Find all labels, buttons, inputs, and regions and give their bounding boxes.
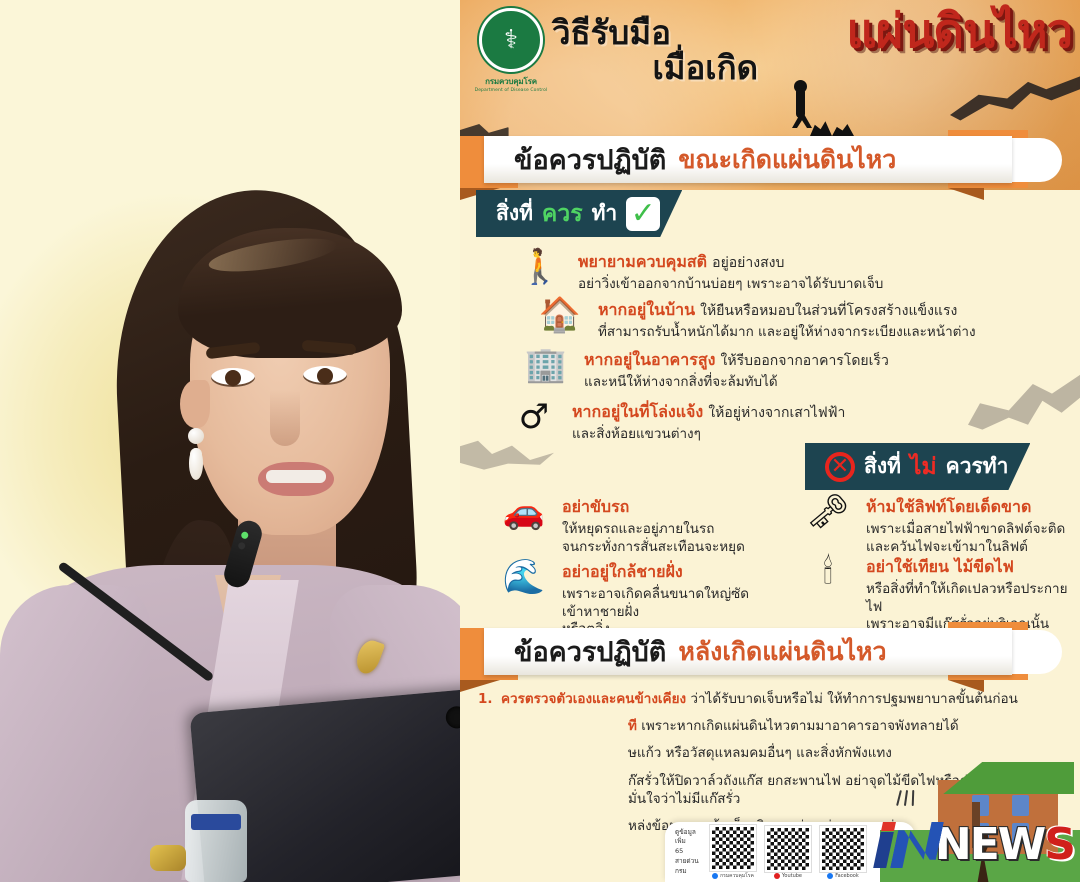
title-line-2: เมื่อเกิด <box>552 51 762 86</box>
dont-item-3-heading: อย่าอยู่ใกล้ชายฝั่ง <box>562 562 683 581</box>
after-item-1-em: ควรตรวจตัวเองและคนข้างเคียง <box>501 691 686 707</box>
do-item-2: 🏠 หากอยู่ในบ้าน ให้ยืนหรือหมอบในส่วนที่โ… <box>532 298 1002 342</box>
teeth <box>266 470 326 483</box>
after-item-1-num: 1. <box>478 690 494 708</box>
check-icon: ✓ <box>626 197 660 231</box>
banner-after-earthquake: ข้อควรปฏิบัติ หลังเกิดแผ่นดินไหว <box>460 622 1080 682</box>
do-section-tag: สิ่งที่ ควร ทำ ✓ <box>476 190 682 237</box>
do-item-4: ♂ หากอยู่ในที่โล่งแจ้ง ให้อยู่ห่างจากเสา… <box>506 400 976 444</box>
water-bottle <box>185 800 247 882</box>
screenshot-root: ⚕ กรมควบคุมโรค Department of Disease Con… <box>0 0 1080 882</box>
person-running-silhouette-icon <box>770 88 860 136</box>
dont-item-1-detail: ให้หยุดรถและอยู่ภายในรถ จนกระทั่งการสั่น… <box>562 521 745 556</box>
open-field-pole-icon: ♂ <box>506 400 562 434</box>
do-item-3-text: หากอยู่ในอาคารสูง ให้รีบออกจากอาคารโดยเร… <box>584 348 889 392</box>
dont-tag-suffix: ควรทำ <box>946 450 1009 483</box>
qr-block-1[interactable]: กรมควบคุมโรค <box>710 825 756 880</box>
qr-label-3: Facebook <box>820 873 866 879</box>
do-item-2-heading: หากอยู่ในบ้าน <box>598 300 695 319</box>
dont-tag-accent: ไม่ <box>910 449 937 485</box>
banner-after-label: ข้อควรปฏิบัติ <box>514 630 666 673</box>
title-line-1: วิธีรับมือ <box>552 13 671 52</box>
shoulder-left <box>0 585 150 882</box>
eye-right <box>303 366 347 385</box>
do-item-4-detail: และสิ่งห้อยแขวนต่างๆ <box>572 426 845 444</box>
do-item-4-heading-tail: ให้อยู่ห่างจากเสาไฟฟ้า <box>708 405 845 421</box>
do-item-1-text: พยายามควบคุมสติ อยู่อย่างสงบ อย่าวิ่งเข้… <box>578 250 883 294</box>
after-item-3-rest: ษแก้ว หรือวัสดุแหลมคมอื่นๆ และสิ่งหักพัง… <box>628 744 892 762</box>
department-name-en: Department of Disease Control <box>472 88 550 93</box>
news-wordmark: NEWS <box>935 823 1074 867</box>
news-word-red: S <box>1044 819 1074 870</box>
poster-title-highlight: แผ่นดินไหว <box>760 8 1072 55</box>
after-item-1-rest: ว่าได้รับบาดเจ็บหรือไม่ ให้ทำการปฐมพยาบา… <box>690 691 1017 707</box>
ribbon2-cap <box>1006 630 1062 674</box>
earring <box>188 428 204 444</box>
car-icon: 🚗 <box>496 495 552 529</box>
do-item-1-heading-tail: อยู่อย่างสงบ <box>712 255 784 271</box>
after-item-1: 1. ควรตรวจตัวเองและคนข้างเคียง ว่าได้รับ… <box>478 690 1062 708</box>
dont-item-2-detail: เพราะเมื่อสายไฟฟ้าขาดลิฟต์จะติด และควันไ… <box>866 521 1065 556</box>
press-conference-photo <box>0 0 470 882</box>
dont-item-1: 🚗 อย่าขับรถ ให้หยุดรถและอยู่ภายในรถ จนกร… <box>496 495 766 556</box>
qr-label-2: Youtube <box>765 873 811 879</box>
qr-code-facebook-dept[interactable] <box>710 825 756 871</box>
in-logo-icon <box>875 822 941 868</box>
qr-code-facebook[interactable] <box>820 826 866 872</box>
dont-section-tag: ✕ สิ่งที่ ไม่ ควรทำ <box>805 443 1030 490</box>
do-item-3-heading: หากอยู่ในอาคารสูง <box>584 350 715 369</box>
banner-during-highlight: ขณะเกิดแผ่นดินไหว <box>678 140 896 180</box>
house-window-2 <box>1012 795 1029 816</box>
caduceus-seal-icon: ⚕ <box>479 8 543 72</box>
house-table-icon: 🏠 <box>532 298 588 332</box>
ribbon-cap <box>1006 138 1062 182</box>
ear <box>180 380 210 428</box>
do-tag-accent: ควร <box>542 196 583 232</box>
shore-wave-icon: 🌊 <box>496 560 552 594</box>
qr-block-2[interactable]: Youtube <box>765 826 811 879</box>
in-news-watermark: NEWS <box>875 822 1074 868</box>
do-item-1: 🚶 พยายามควบคุมสติ อยู่อย่างสงบ อย่าวิ่งเ… <box>512 250 982 294</box>
qr-label-1: กรมควบคุมโรค <box>710 872 756 880</box>
dont-item-1-heading: อย่าขับรถ <box>562 497 629 516</box>
mouth <box>258 462 334 496</box>
department-logo: ⚕ กรมควบคุมโรค Department of Disease Con… <box>472 8 550 92</box>
candle-icon: 🕯 <box>800 555 856 589</box>
do-item-3-detail: และหนีให้ห่างจากสิ่งที่จะล้มทับได้ <box>584 374 889 392</box>
qr-code-youtube[interactable] <box>765 826 811 872</box>
dont-tag-body: ✕ สิ่งที่ ไม่ ควรทำ <box>805 443 1030 490</box>
do-item-2-heading-tail: ให้ยืนหรือหมอบในส่วนที่โครงสร้างแข็งแรง <box>700 303 957 319</box>
ribbon2-band: ข้อควรปฏิบัติ หลังเกิดแผ่นดินไหว <box>484 628 1012 675</box>
after-item-2: ที เพราะหากเกิดแผ่นดินไหวตามมาอาคารอาจพั… <box>478 717 1062 735</box>
bottle-label <box>191 814 241 830</box>
dont-item-1-text: อย่าขับรถ ให้หยุดรถและอยู่ภายในรถ จนกระท… <box>562 495 745 556</box>
do-item-3: 🏢 หากอยู่ในอาคารสูง ให้รีบออกจากอาคารโดย… <box>518 348 988 392</box>
news-word-white: NEW <box>935 819 1044 870</box>
department-name-th: กรมควบคุมโรค <box>472 75 550 88</box>
poster-title: วิธีรับมือ เมื่อเกิด <box>552 16 762 86</box>
do-item-4-heading: หากอยู่ในที่โล่งแจ้ง <box>572 402 703 421</box>
do-item-2-text: หากอยู่ในบ้าน ให้ยืนหรือหมอบในส่วนที่โคร… <box>598 298 976 342</box>
x-circle-icon: ✕ <box>825 452 855 482</box>
dont-item-2: 🗝 ห้ามใช้ลิฟท์โดยเด็ดขาด เพราะเมื่อสายไฟ… <box>800 495 1080 556</box>
dont-item-2-heading: ห้ามใช้ลิฟท์โดยเด็ดขาด <box>866 497 1031 516</box>
do-tag-body: สิ่งที่ ควร ทำ ✓ <box>476 190 682 237</box>
shake-lines-icon <box>898 790 924 816</box>
do-tag-suffix: ทำ <box>592 197 618 230</box>
dont-tag-prefix: สิ่งที่ <box>864 450 901 483</box>
wristwatch <box>150 845 186 871</box>
after-item-2-rest: เพราะหากเกิดแผ่นดินไหวตามมาอาคารอาจพังทล… <box>641 718 959 734</box>
elevator-icon: 🗝 <box>800 495 856 529</box>
nose <box>270 390 300 446</box>
do-item-2-detail: ที่สามารถรับน้ำหนักได้มาก และอยู่ให้ห่าง… <box>598 324 976 342</box>
dont-item-2-text: ห้ามใช้ลิฟท์โดยเด็ดขาด เพราะเมื่อสายไฟฟ้… <box>866 495 1065 556</box>
after-item-3: ษแก้ว หรือวัสดุแหลมคมอื่นๆ และสิ่งหักพัง… <box>478 744 1062 762</box>
after-item-2-em: ที <box>628 718 637 734</box>
do-item-1-detail: อย่าวิ่งเข้าออกจากบ้านบ่อยๆ เพราะอาจได้ร… <box>578 276 883 294</box>
eye-left <box>211 368 255 387</box>
qr-side-text: ดูข้อมูลเพิ่ม 65 สายด่วน กรม <box>675 828 701 877</box>
do-tag-prefix: สิ่งที่ <box>496 197 533 230</box>
ribbon-band: ข้อควรปฏิบัติ ขณะเกิดแผ่นดินไหว <box>484 136 1012 183</box>
banner-during-earthquake: ข้อควรปฏิบัติ ขณะเกิดแผ่นดินไหว <box>460 130 1080 190</box>
qr-block-3[interactable]: Facebook <box>820 826 866 879</box>
building-exit-icon: 🏢 <box>518 348 574 382</box>
dont-item-4-heading: อย่าใช้เทียน ไม้ขีดไฟ <box>866 557 1014 576</box>
do-item-4-text: หากอยู่ในที่โล่งแจ้ง ให้อยู่ห่างจากเสาไฟ… <box>572 400 845 444</box>
banner-after-highlight: หลังเกิดแผ่นดินไหว <box>678 632 886 672</box>
do-item-1-heading: พยายามควบคุมสติ <box>578 252 707 271</box>
earthquake-infographic-poster: ⚕ กรมควบคุมโรค Department of Disease Con… <box>460 0 1080 882</box>
person-shouting-icon: 🚶 <box>512 250 568 284</box>
banner-during-label: ข้อควรปฏิบัติ <box>514 138 666 181</box>
do-item-3-heading-tail: ให้รีบออกจากอาคารโดยเร็ว <box>721 353 889 369</box>
